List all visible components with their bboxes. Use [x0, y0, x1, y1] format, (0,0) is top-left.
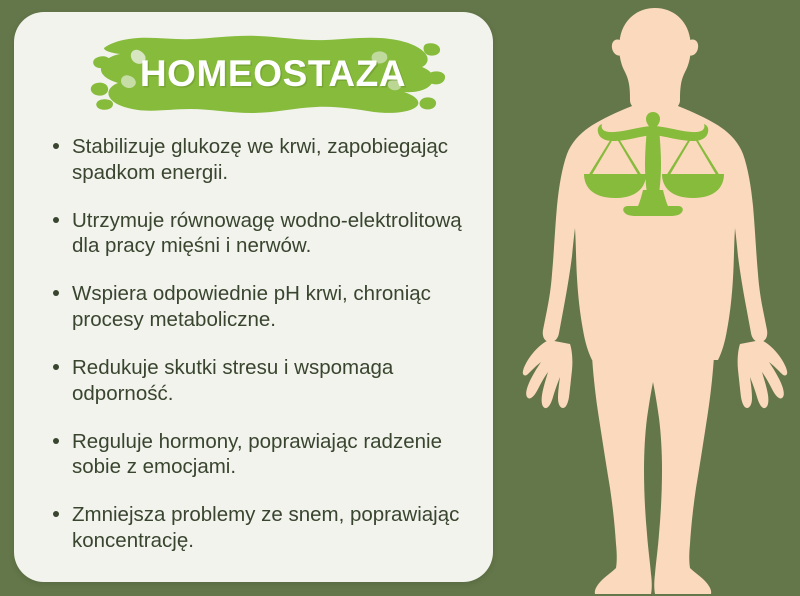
list-item: Redukuje skutki stresu i wspomaga odporn…	[48, 355, 468, 407]
page-title: HOMEOSTAZA	[86, 28, 454, 120]
bullet-dot-icon	[53, 364, 59, 370]
bullet-dot-icon	[53, 217, 59, 223]
bullet-dot-icon	[53, 143, 59, 149]
list-item: Stabilizuje glukozę we krwi, zapobiegają…	[48, 134, 468, 186]
list-item: Reguluje hormony, poprawiając radzenie s…	[48, 429, 468, 481]
list-item-text: Reguluje hormony, poprawiając radzenie s…	[72, 430, 442, 479]
list-item-text: Utrzymuje równowagę wodno-elektrolitową …	[72, 209, 462, 258]
bullet-dot-icon	[53, 290, 59, 296]
benefits-list: Stabilizuje glukozę we krwi, zapobiegają…	[48, 134, 468, 554]
list-item: Zmniejsza problemy ze snem, poprawiając …	[48, 502, 468, 554]
list-item-text: Stabilizuje glukozę we krwi, zapobiegają…	[72, 135, 448, 184]
bullet-dot-icon	[53, 511, 59, 517]
list-item: Wspiera odpowiednie pH krwi, chroniąc pr…	[48, 281, 468, 333]
infographic-poster: HOMEOSTAZA Stabilizuje glukozę we krwi, …	[0, 0, 800, 596]
list-item-text: Zmniejsza problemy ze snem, poprawiając …	[72, 503, 459, 552]
list-item: Utrzymuje równowagę wodno-elektrolitową …	[48, 208, 468, 260]
title-banner: HOMEOSTAZA	[86, 28, 454, 120]
bullet-dot-icon	[53, 438, 59, 444]
content-card: HOMEOSTAZA Stabilizuje glukozę we krwi, …	[14, 12, 493, 582]
human-body-silhouette-icon	[510, 0, 800, 596]
list-item-text: Redukuje skutki stresu i wspomaga odporn…	[72, 356, 393, 405]
illustration	[510, 0, 800, 596]
list-item-text: Wspiera odpowiednie pH krwi, chroniąc pr…	[72, 282, 431, 331]
